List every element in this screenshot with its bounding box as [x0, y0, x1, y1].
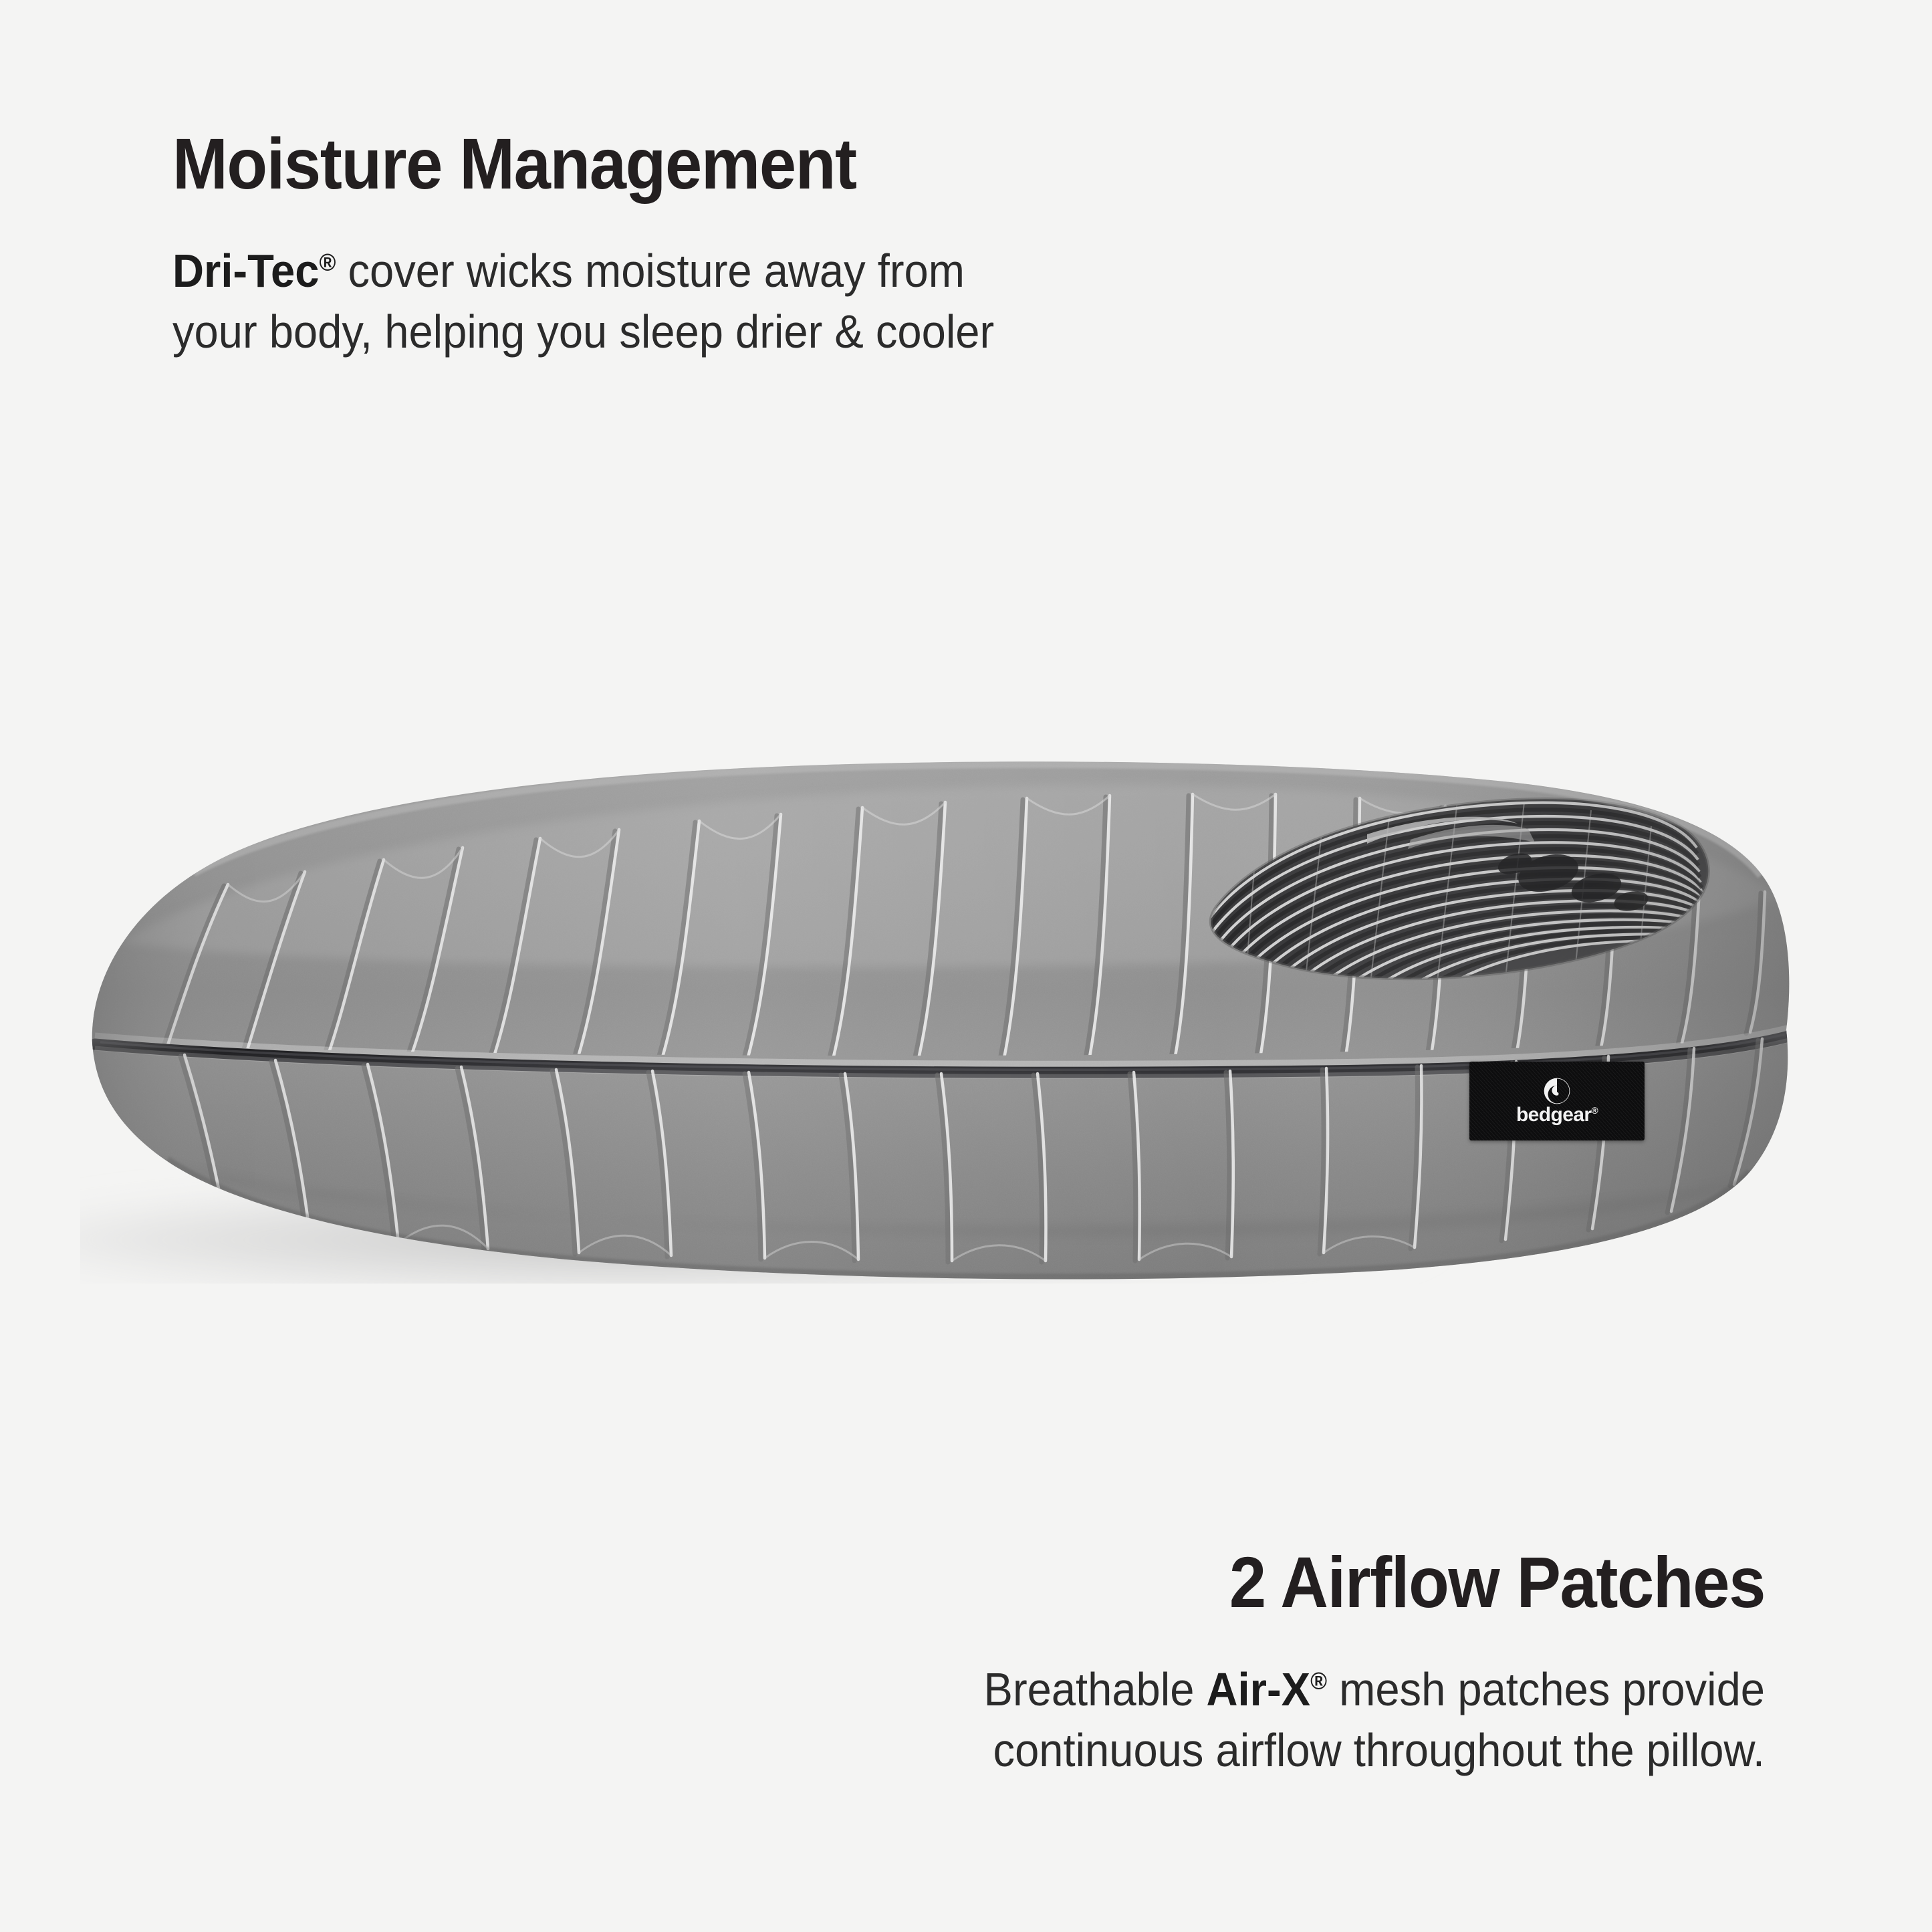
- bedgear-swirl-icon: [1543, 1077, 1571, 1105]
- top-body-line-1: Dri-Tec® cover wicks moisture away from: [172, 241, 1354, 301]
- bottom-body-line-1: Breathable Air-X® mesh patches provide: [459, 1659, 1765, 1720]
- pillow-illustration: [80, 742, 1805, 1284]
- top-body-lead: Dri-Tec: [172, 245, 319, 297]
- product-feature-graphic: Moisture Management Dri-Tec® cover wicks…: [0, 0, 1932, 1932]
- top-heading: Moisture Management: [172, 126, 1341, 202]
- bottom-body-line-2: continuous airflow throughout the pillow…: [459, 1720, 1765, 1781]
- bedgear-wordmark: bedgear®: [1516, 1105, 1598, 1125]
- top-body-line1-rest: cover wicks moisture away from: [336, 245, 965, 297]
- bottom-body-lead-mark: ®: [1310, 1667, 1327, 1695]
- bottom-body-line1-pre: Breathable: [984, 1663, 1207, 1715]
- pillow-product-image: [80, 742, 1805, 1284]
- top-copy-block: Moisture Management Dri-Tec® cover wicks…: [172, 126, 1443, 362]
- bedgear-brand-tag: bedgear®: [1469, 1062, 1645, 1140]
- top-body-line-2: your body, helping you sleep drier & coo…: [172, 301, 1354, 362]
- pillow-body: [80, 742, 1805, 1284]
- bottom-body-line1-rest: mesh patches provide: [1327, 1663, 1765, 1715]
- bottom-body-lead: Air-X: [1207, 1663, 1311, 1715]
- top-body-lead-mark: ®: [319, 249, 336, 276]
- bottom-heading: 2 Airflow Patches: [473, 1544, 1765, 1620]
- bottom-copy-block: 2 Airflow Patches Breathable Air-X® mesh…: [361, 1544, 1765, 1781]
